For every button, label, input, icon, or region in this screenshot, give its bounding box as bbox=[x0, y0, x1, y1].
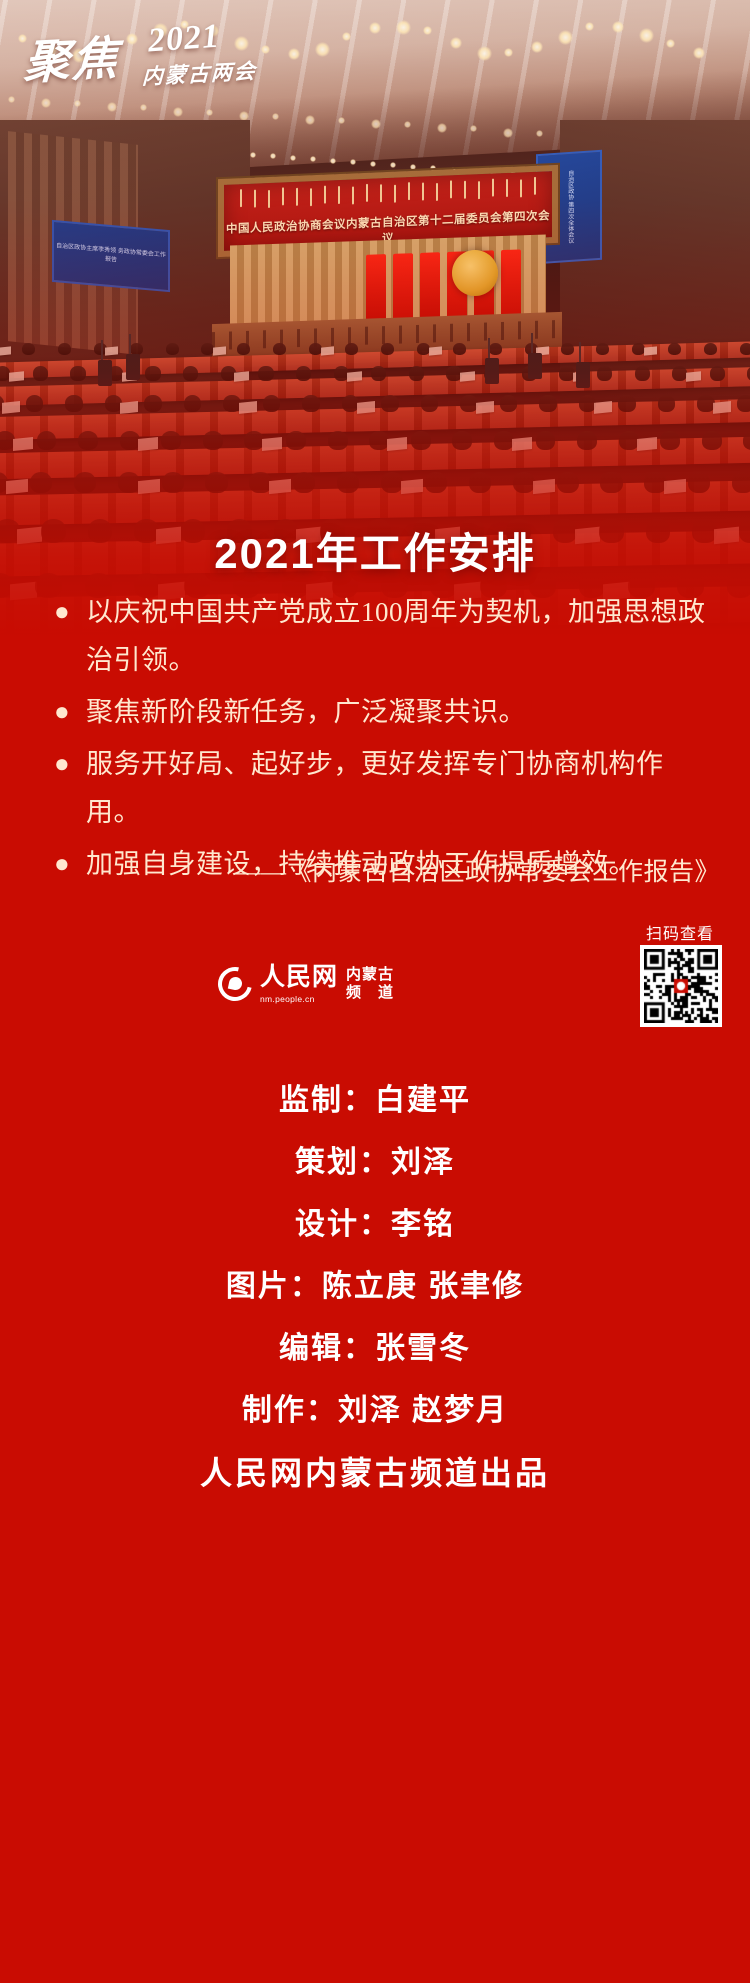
mongolian-glyph bbox=[240, 189, 242, 207]
document-paper bbox=[401, 479, 423, 495]
audience-head bbox=[702, 431, 722, 450]
document-paper bbox=[239, 401, 257, 413]
document-paper bbox=[713, 401, 731, 413]
audience-head bbox=[557, 472, 579, 493]
document-paper bbox=[120, 401, 138, 413]
camera-icon bbox=[126, 354, 140, 380]
ceiling-light-icon bbox=[371, 119, 381, 129]
ceiling-light-icon bbox=[330, 158, 336, 164]
mongolian-glyph bbox=[254, 190, 256, 208]
ceiling-light-icon bbox=[423, 26, 432, 35]
people-cn-logo-icon bbox=[218, 967, 252, 1001]
people-cn-logo: 人民网 nm.people.cn 内蒙古 频 道 bbox=[218, 962, 458, 1006]
ceiling-light-icon bbox=[288, 48, 300, 60]
ceiling-light-icon bbox=[290, 155, 296, 161]
side-screen-left: 自治区政协主席李秀领 务政协常委会工作报告 bbox=[52, 220, 170, 292]
mongolian-glyph bbox=[380, 184, 382, 202]
bullet-dot-icon: ● bbox=[54, 688, 70, 736]
audience-head bbox=[223, 395, 241, 412]
audience-head bbox=[78, 431, 98, 450]
ceiling-light-icon bbox=[207, 25, 219, 37]
ceiling-light-icon bbox=[536, 130, 543, 137]
audience-head bbox=[381, 472, 403, 493]
ceiling-light-icon bbox=[261, 45, 270, 54]
side-screen-right-text: 自治区政协 第四次全体会议 bbox=[564, 170, 574, 244]
document-paper bbox=[387, 437, 407, 451]
mongolian-glyph bbox=[268, 190, 270, 208]
ceiling-light-icon bbox=[470, 125, 477, 132]
work-arrangement-item: ●聚焦新阶段新任务，广泛凝聚共识。 bbox=[46, 688, 706, 736]
document-paper bbox=[138, 437, 158, 451]
audience-head bbox=[30, 472, 52, 493]
audience-head bbox=[302, 395, 320, 412]
document-paper bbox=[0, 347, 11, 356]
ceiling-light-icon bbox=[390, 162, 396, 168]
audience-head bbox=[411, 431, 431, 450]
mongolian-glyph bbox=[464, 181, 466, 199]
cppcc-emblem-icon bbox=[452, 250, 498, 296]
audience-head bbox=[381, 343, 394, 355]
mongolian-glyph bbox=[282, 187, 284, 205]
ceiling-light-icon bbox=[270, 153, 276, 159]
ceiling-light-icon bbox=[180, 20, 189, 29]
audience-head bbox=[740, 343, 750, 355]
ceiling-light-icon bbox=[74, 100, 81, 107]
audience-head bbox=[539, 395, 557, 412]
audience-head bbox=[577, 431, 597, 450]
camera-icon bbox=[98, 360, 112, 386]
credit-line: 设计：李铭 bbox=[0, 1194, 750, 1256]
mongolian-glyph bbox=[450, 180, 452, 198]
mongolian-glyph bbox=[338, 186, 340, 204]
ceiling-light-icon bbox=[693, 47, 705, 59]
audience-head bbox=[337, 472, 359, 493]
ceiling-light-icon bbox=[342, 32, 351, 41]
ceiling-light-icon bbox=[338, 117, 345, 124]
ceiling-light-icon bbox=[504, 48, 513, 57]
ceiling-light-icon bbox=[310, 156, 316, 162]
audience-head bbox=[37, 431, 57, 450]
audience-head bbox=[371, 366, 386, 381]
audience-head bbox=[452, 431, 472, 450]
audience-head bbox=[453, 343, 466, 355]
ceiling-light-icon bbox=[234, 36, 249, 51]
audience-head bbox=[33, 366, 48, 381]
credit-line: 策划：刘泽 bbox=[0, 1132, 750, 1194]
ceiling-light-icon bbox=[173, 107, 183, 117]
mongolian-glyph bbox=[492, 179, 494, 197]
audience-head bbox=[258, 366, 273, 381]
audience-head bbox=[162, 472, 184, 493]
audience-head bbox=[658, 395, 676, 412]
audience-head bbox=[120, 431, 140, 450]
audience-head bbox=[144, 395, 162, 412]
ceiling-light-icon bbox=[396, 20, 411, 35]
ceiling-light-icon bbox=[206, 109, 213, 116]
credit-line: 监制：白建平 bbox=[0, 1070, 750, 1132]
audience-head bbox=[469, 472, 491, 493]
ceiling-light-icon bbox=[639, 28, 654, 43]
ceiling-light-icon bbox=[126, 33, 138, 45]
ceiling-light-icon bbox=[305, 115, 315, 125]
document-paper bbox=[138, 479, 160, 495]
qr-code[interactable] bbox=[640, 945, 722, 1027]
document-paper bbox=[347, 371, 362, 382]
document-paper bbox=[476, 401, 494, 413]
work-arrangement-item-text: 聚焦新阶段新任务，广泛凝聚共识。 bbox=[86, 697, 526, 727]
document-paper bbox=[357, 401, 375, 413]
publisher-line: 人民网内蒙古频道出品 bbox=[0, 1448, 750, 1494]
work-arrangement-item-text: 服务开好局、起好步，更好发挥专门协商机构作用。 bbox=[86, 749, 664, 827]
ceiling-light-icon bbox=[45, 44, 57, 56]
channel-line-2: 频 道 bbox=[346, 984, 394, 1002]
audience-head bbox=[660, 431, 680, 450]
document-paper bbox=[686, 371, 701, 382]
credit-line: 图片：陈立庚 张聿修 bbox=[0, 1256, 750, 1318]
audience-head bbox=[561, 343, 574, 355]
audience-head bbox=[421, 395, 439, 412]
audience-head bbox=[296, 366, 311, 381]
source-attribution: ——《内蒙古自治区政协常委会工作报告》 bbox=[0, 852, 750, 888]
document-paper bbox=[269, 479, 291, 495]
ceiling-light-icon bbox=[153, 23, 168, 38]
audience-head bbox=[635, 366, 650, 381]
audience-head bbox=[618, 395, 636, 412]
audience-head bbox=[345, 343, 358, 355]
channel-name: 内蒙古 频 道 bbox=[346, 966, 394, 1002]
audience-head bbox=[184, 395, 202, 412]
audience-head bbox=[65, 395, 83, 412]
audience-head bbox=[460, 395, 478, 412]
document-paper bbox=[213, 347, 226, 356]
side-screen-left-text: 自治区政协主席李秀领 务政协常委会工作报告 bbox=[54, 242, 168, 270]
mongolian-glyph bbox=[534, 177, 536, 195]
document-paper bbox=[262, 437, 282, 451]
audience-head bbox=[286, 431, 306, 450]
document-paper bbox=[664, 479, 686, 495]
audience-head bbox=[145, 366, 160, 381]
audience-head bbox=[273, 343, 286, 355]
page-headline: 2021年工作安排 bbox=[0, 520, 750, 581]
ceiling-light-icon bbox=[410, 164, 416, 170]
credit-line: 编辑：张雪冬 bbox=[0, 1318, 750, 1380]
audience-head bbox=[513, 472, 535, 493]
mongolian-glyph bbox=[324, 186, 326, 204]
audience-head bbox=[489, 343, 502, 355]
camera-icon bbox=[528, 353, 542, 379]
mongolian-glyph bbox=[520, 179, 522, 197]
channel-line-1: 内蒙古 bbox=[346, 966, 394, 984]
brand-url: nm.people.cn bbox=[260, 994, 338, 1004]
people-cn-logo-wordmark: 人民网 nm.people.cn bbox=[260, 965, 338, 1004]
audience-head bbox=[688, 472, 710, 493]
audience-head bbox=[732, 472, 750, 493]
mongolian-glyph bbox=[366, 184, 368, 202]
document-paper bbox=[13, 437, 33, 451]
stage-flag-icon bbox=[420, 252, 440, 323]
audience-head bbox=[417, 343, 430, 355]
mongolian-glyph bbox=[506, 179, 508, 197]
work-arrangement-item-text: 以庆祝中国共产党成立100周年为契机，加强思想政治引领。 bbox=[86, 597, 706, 675]
mongolian-glyph bbox=[296, 188, 298, 206]
work-arrangement-item: ●服务开好局、起好步，更好发挥专门协商机构作用。 bbox=[46, 740, 706, 836]
ceiling-light-icon bbox=[477, 46, 492, 61]
document-paper bbox=[10, 581, 37, 600]
mongolian-glyph bbox=[394, 185, 396, 203]
audience-head bbox=[381, 395, 399, 412]
mongolian-glyph bbox=[436, 183, 438, 201]
ceiling-light-icon bbox=[72, 48, 87, 63]
audience-head bbox=[263, 395, 281, 412]
audience-head bbox=[183, 366, 198, 381]
audience-head bbox=[328, 431, 348, 450]
document-paper bbox=[105, 347, 118, 356]
qr-scan-label: 扫码查看 bbox=[646, 920, 714, 944]
document-paper bbox=[2, 401, 20, 413]
audience-head bbox=[704, 343, 717, 355]
audience-head bbox=[425, 472, 447, 493]
ceiling-light-icon bbox=[140, 104, 147, 111]
ceiling-light-icon bbox=[315, 42, 330, 57]
ceiling-light-icon bbox=[18, 34, 27, 43]
document-paper bbox=[637, 437, 657, 451]
audience-head bbox=[494, 431, 514, 450]
audience-head bbox=[409, 366, 424, 381]
bullet-dot-icon: ● bbox=[54, 740, 70, 788]
audience-head bbox=[26, 395, 44, 412]
ceiling-light-icon bbox=[272, 113, 279, 120]
audience-head bbox=[70, 366, 85, 381]
bullet-dot-icon: ● bbox=[54, 588, 70, 636]
audience-head bbox=[58, 343, 71, 355]
audience-head bbox=[743, 431, 750, 450]
audience-head bbox=[161, 431, 181, 450]
ceiling-light-icon bbox=[99, 43, 108, 52]
document-paper bbox=[512, 437, 532, 451]
document-paper bbox=[6, 479, 28, 495]
audience-head bbox=[118, 472, 140, 493]
mongolian-glyph bbox=[310, 188, 312, 206]
audience-head bbox=[74, 472, 96, 493]
credit-line: 制作：刘泽 赵梦月 bbox=[0, 1380, 750, 1442]
ceiling-light-icon bbox=[404, 121, 411, 128]
work-arrangement-item: ●以庆祝中国共产党成立100周年为契机，加强思想政治引领。 bbox=[46, 588, 706, 684]
audience-head bbox=[597, 366, 612, 381]
audience-head bbox=[600, 472, 622, 493]
audience-head bbox=[203, 431, 223, 450]
stage-flag-icon bbox=[366, 254, 386, 325]
mongolian-glyph bbox=[478, 181, 480, 199]
ceiling-light-icon bbox=[250, 152, 256, 158]
audience-head bbox=[22, 343, 35, 355]
ceiling-light-icon bbox=[107, 102, 117, 112]
camera-icon bbox=[485, 358, 499, 384]
ceiling-light-icon bbox=[531, 41, 543, 53]
ceiling-light-icon bbox=[370, 161, 376, 167]
audience-head bbox=[166, 343, 179, 355]
poster-root: 自治区政协主席李秀领 务政协常委会工作报告 自治区政协 第四次全体会议 中国人民… bbox=[0, 0, 750, 1983]
ceiling-light-icon bbox=[450, 37, 462, 49]
ceiling-light-icon bbox=[503, 128, 513, 138]
ceiling-light-icon bbox=[369, 22, 381, 34]
ceiling-light-icon bbox=[350, 159, 356, 165]
ceiling-light-icon bbox=[666, 39, 675, 48]
document-paper bbox=[533, 479, 555, 495]
mongolian-glyph bbox=[408, 182, 410, 200]
audience-head bbox=[536, 431, 556, 450]
audience-head bbox=[293, 472, 315, 493]
ceiling-light-icon bbox=[41, 98, 51, 108]
audience-head bbox=[697, 395, 715, 412]
credits-list: 监制：白建平策划：刘泽设计：李铭图片：陈立庚 张聿修编辑：张雪冬制作：刘泽 赵梦… bbox=[0, 1070, 750, 1442]
work-arrangement-list: ●以庆祝中国共产党成立100周年为契机，加强思想政治引领。●聚焦新阶段新任务，广… bbox=[46, 588, 706, 892]
document-paper bbox=[594, 401, 612, 413]
audience-head bbox=[732, 632, 750, 640]
mongolian-glyph bbox=[352, 186, 354, 204]
ceiling-light-icon bbox=[585, 22, 594, 31]
ceiling-light-icon bbox=[612, 21, 624, 33]
mongolian-glyph bbox=[422, 182, 424, 200]
audience-head bbox=[596, 343, 609, 355]
ceiling-light-icon bbox=[437, 123, 447, 133]
qr-code-canvas bbox=[644, 949, 718, 1023]
document-paper bbox=[460, 371, 475, 382]
audience-head bbox=[237, 343, 250, 355]
ceiling-light-icon bbox=[8, 96, 15, 103]
ceiling-light-icon bbox=[558, 30, 573, 45]
audience-head bbox=[668, 343, 681, 355]
document-paper bbox=[234, 371, 249, 382]
brand-name: 人民网 bbox=[260, 965, 338, 990]
audience-head bbox=[500, 395, 518, 412]
audience-head bbox=[710, 366, 725, 381]
audience-head bbox=[737, 395, 750, 412]
camera-icon bbox=[576, 362, 590, 388]
document-paper bbox=[9, 371, 24, 382]
audience-head bbox=[619, 431, 639, 450]
audience-head bbox=[205, 472, 227, 493]
